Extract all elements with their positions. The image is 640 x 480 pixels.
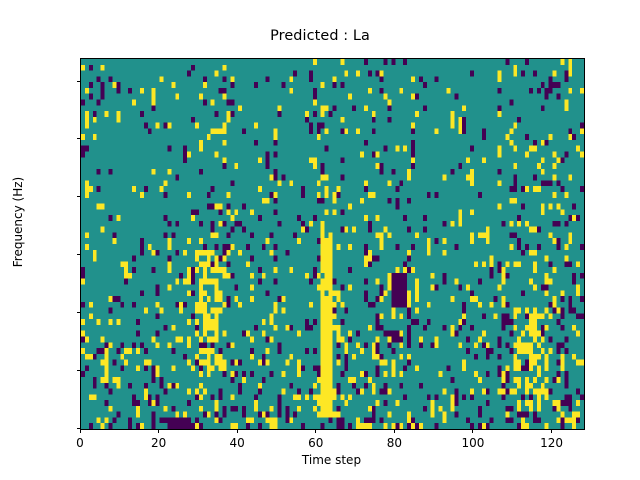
x-axis-tick <box>551 429 552 433</box>
x-axis-label: Time step <box>80 453 583 467</box>
x-axis-tick <box>315 429 316 433</box>
x-axis-tick-label: 40 <box>207 436 267 450</box>
x-axis-tick <box>80 429 81 433</box>
x-axis-tick <box>158 429 159 433</box>
x-axis-tick <box>394 429 395 433</box>
x-axis-tick-label: 0 <box>50 436 110 450</box>
x-axis-tick-label: 60 <box>286 436 346 450</box>
x-axis-tick-label: 80 <box>364 436 424 450</box>
x-axis: Time step 020406080100120 <box>0 0 640 480</box>
x-axis-tick-label: 20 <box>129 436 189 450</box>
x-axis-tick-label: 100 <box>443 436 503 450</box>
x-axis-tick <box>237 429 238 433</box>
x-axis-tick <box>472 429 473 433</box>
figure-canvas: Predicted : La Frequency (Hz) 0200004000… <box>0 0 640 480</box>
x-axis-tick-label: 120 <box>522 436 582 450</box>
